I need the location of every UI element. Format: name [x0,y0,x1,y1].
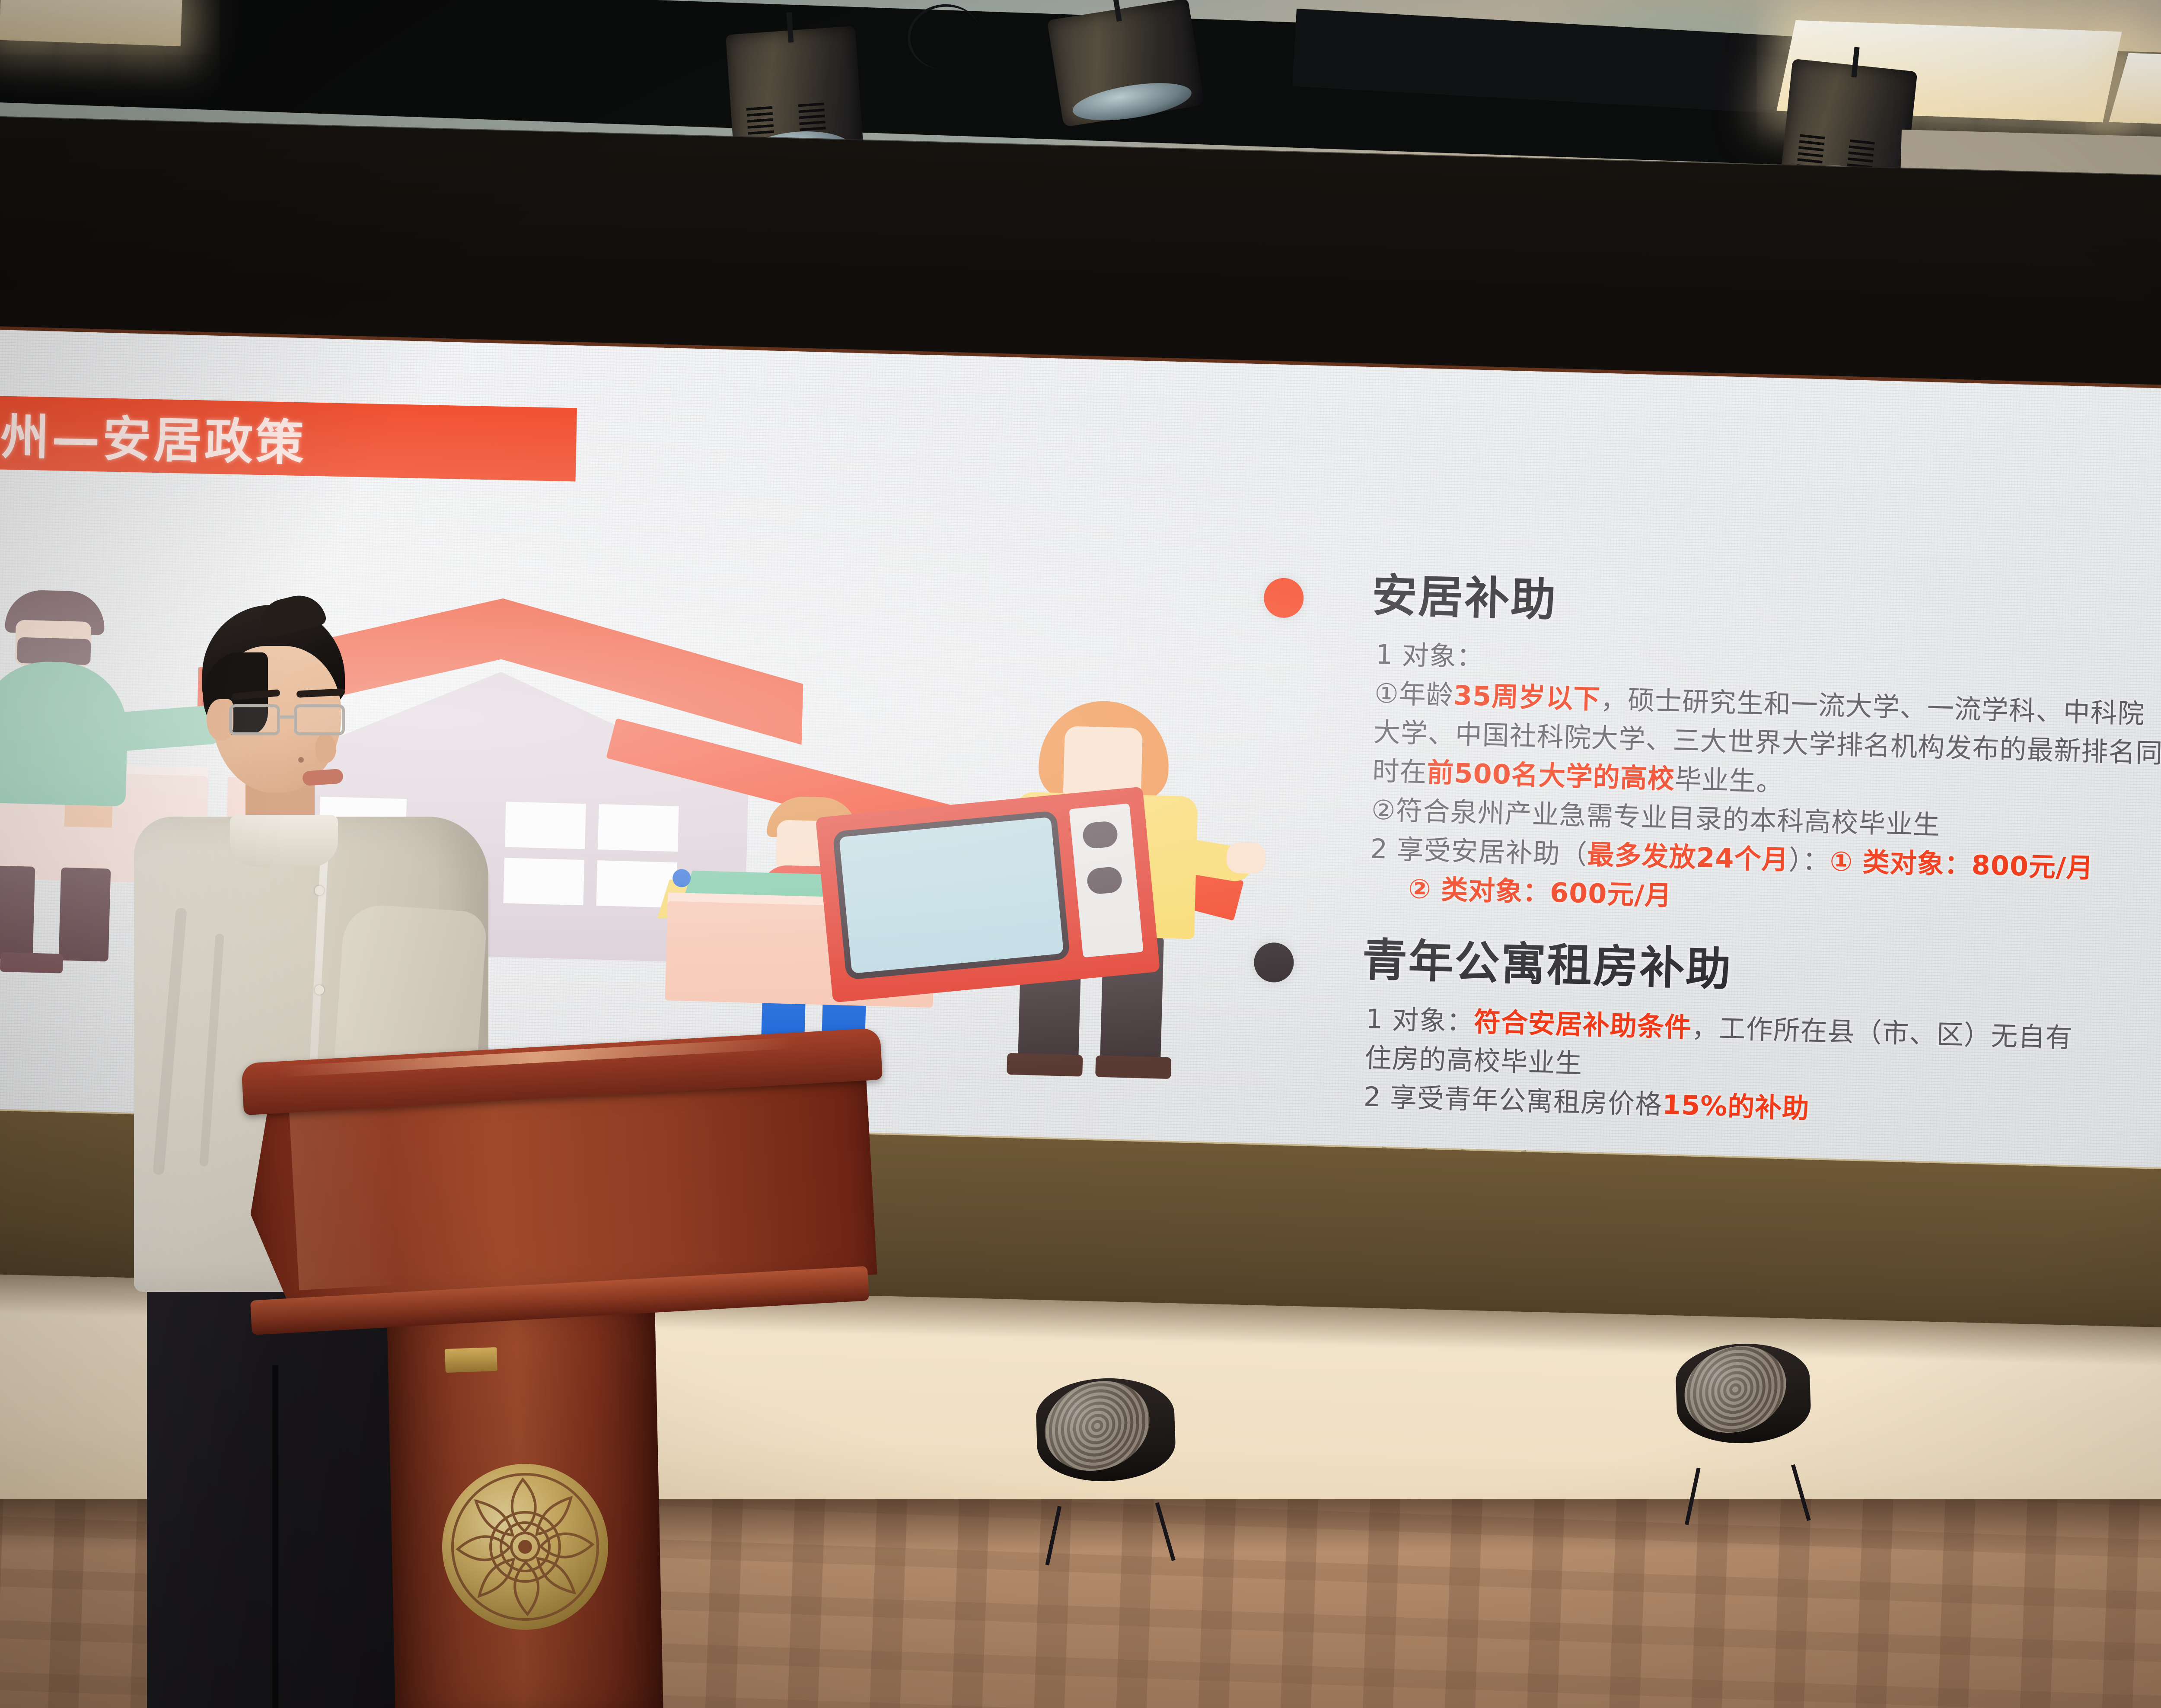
photo-scene: 泉州—安居政策 [0,0,2161,1708]
floor-par-light [1675,1342,1814,1485]
section-body: 1 对象：符合安居补助条件，工作所在县（市、区）无自有住房的高校毕业生2 享受青… [1363,999,2161,1145]
retro-tv-icon [816,786,1160,1002]
slide-section: 安居补助1 对象：①年龄35周岁以下，硕士研究生和一流大学、一流学科、中科院大学… [1256,567,2161,937]
podium [242,1037,882,1708]
lotus-medallion-icon [436,1457,615,1636]
house-window [598,804,679,852]
slide-section: 青年公寓租房补助1 对象：符合安居补助条件，工作所在县（市、区）无自有住房的高校… [1250,932,2161,1146]
floor-par-light [1035,1376,1178,1524]
slide-title-banner: 泉州—安居政策 [0,393,577,481]
section-bullet-icon [1253,942,1294,983]
slide-title: 泉州—安居政策 [0,397,307,474]
glasses-icon [229,704,354,739]
section-bullet-icon [1263,578,1304,618]
ceiling-panel-light [0,0,182,46]
stage-spotlight [1047,0,1205,127]
woman-with-tv-figure [952,697,1265,1094]
section-body: 1 对象：①年龄35周岁以下，硕士研究生和一流大学、一流学科、中科院大学、中国社… [1369,635,2161,937]
slide-text-column: 安居补助1 对象：①年龄35周岁以下，硕士研究生和一流大学、一流学科、中科院大学… [1245,567,2161,1236]
speaker-collar [230,815,338,867]
podium-brass-plate [445,1347,497,1373]
